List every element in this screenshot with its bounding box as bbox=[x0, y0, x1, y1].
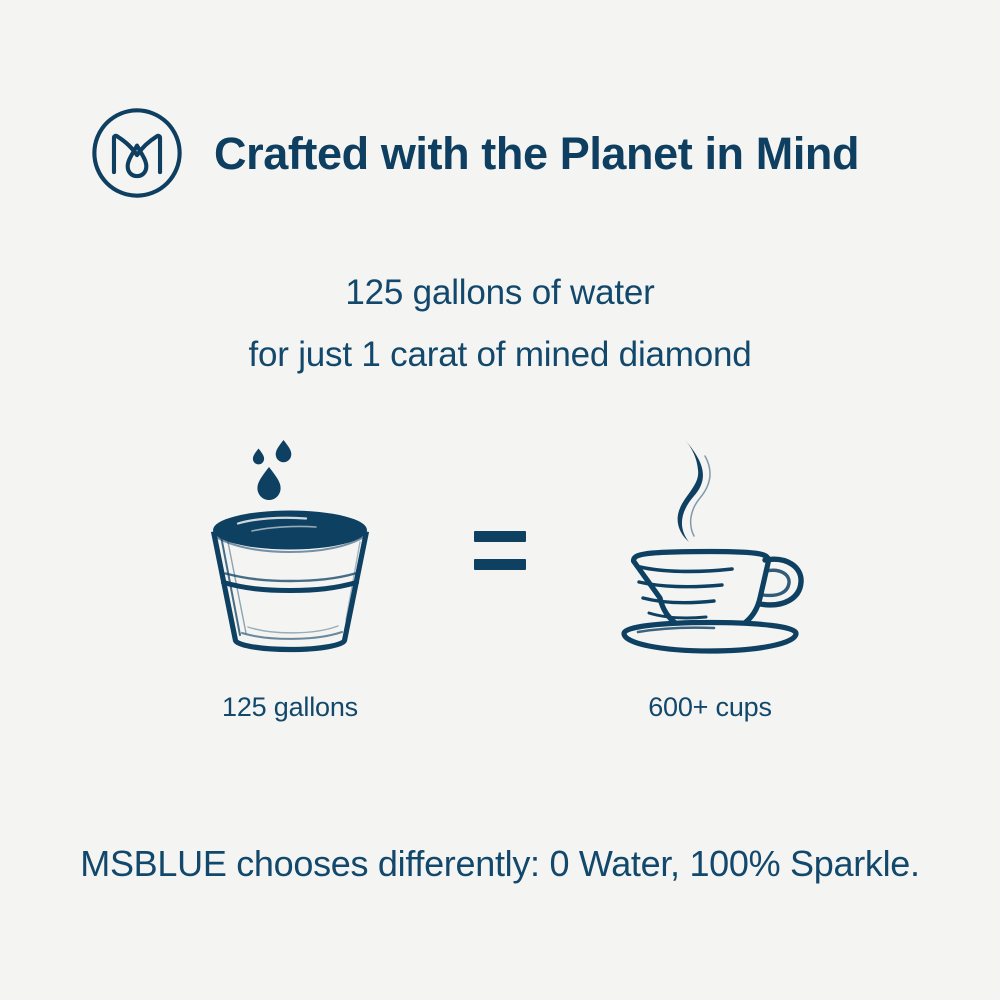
coffee-cup-icon bbox=[610, 430, 810, 670]
subhead-line-1: 125 gallons of water bbox=[0, 262, 1000, 324]
caption-cups: 600+ cups bbox=[648, 692, 772, 723]
tagline: MSBLUE chooses differently: 0 Water, 100… bbox=[0, 843, 1000, 885]
comparison-item-gallons: 125 gallons bbox=[140, 430, 440, 723]
equals-bar-bottom bbox=[474, 559, 526, 570]
equals-bar-top bbox=[474, 531, 526, 542]
poster-canvas: Crafted with the Planet in Mind 125 gall… bbox=[0, 0, 1000, 1000]
coffee-cup-art bbox=[610, 430, 810, 670]
comparison-item-cups: 600+ cups bbox=[560, 430, 860, 723]
subhead-line-2: for just 1 carat of mined diamond bbox=[0, 324, 1000, 386]
caption-gallons: 125 gallons bbox=[222, 692, 358, 723]
page-title: Crafted with the Planet in Mind bbox=[214, 131, 859, 176]
water-bucket-art bbox=[190, 430, 390, 670]
comparison-row: 125 gallons bbox=[0, 430, 1000, 723]
subhead-block: 125 gallons of water for just 1 carat of… bbox=[0, 262, 1000, 387]
equals-glyph bbox=[474, 531, 526, 570]
msblue-monogram-logo-icon bbox=[88, 104, 186, 202]
water-bucket-icon bbox=[190, 430, 390, 670]
equals-sign bbox=[440, 430, 560, 670]
header: Crafted with the Planet in Mind bbox=[88, 104, 859, 202]
